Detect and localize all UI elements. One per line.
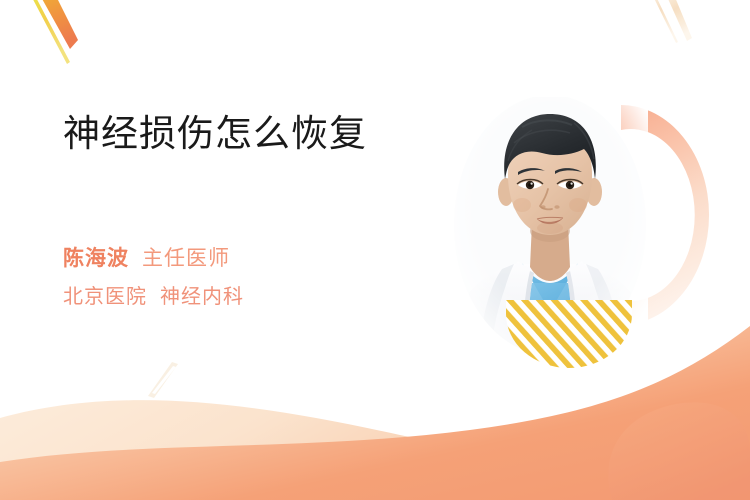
wave-lobe: [608, 402, 750, 500]
video-cover-card: 神经损伤怎么恢复 陈海波主任医师 北京医院神经内科: [0, 0, 750, 500]
stripe-faint-inner: [152, 366, 176, 394]
stripe-faint: [148, 362, 178, 398]
page-title: 神经损伤怎么恢复: [63, 112, 443, 156]
top-right-stripe-group: [650, 0, 692, 43]
doctor-portrait: [452, 97, 648, 362]
top-left-stripe-group: [27, 0, 78, 64]
doctor-credentials: 陈海波主任医师 北京医院神经内科: [63, 248, 463, 307]
doctor-department: 神经内科: [160, 286, 244, 308]
stripe-cream-thick: [664, 0, 692, 41]
doctor-portrait-illustration: [452, 97, 648, 362]
credential-line-primary: 陈海波主任医师: [63, 248, 463, 269]
wave-shape-pale: [0, 360, 750, 500]
mid-stripe-group: [148, 362, 178, 398]
stripe-cream-thin: [650, 0, 678, 43]
doctor-title: 主任医师: [142, 247, 230, 270]
title-block: 神经损伤怎么恢复: [63, 112, 443, 156]
stripe-yellow-thin: [27, 0, 70, 64]
credential-line-secondary: 北京医院神经内科: [63, 287, 463, 307]
doctor-hospital: 北京医院: [63, 286, 147, 308]
doctor-name: 陈海波: [63, 247, 129, 270]
stripe-orange-thick: [36, 0, 78, 49]
